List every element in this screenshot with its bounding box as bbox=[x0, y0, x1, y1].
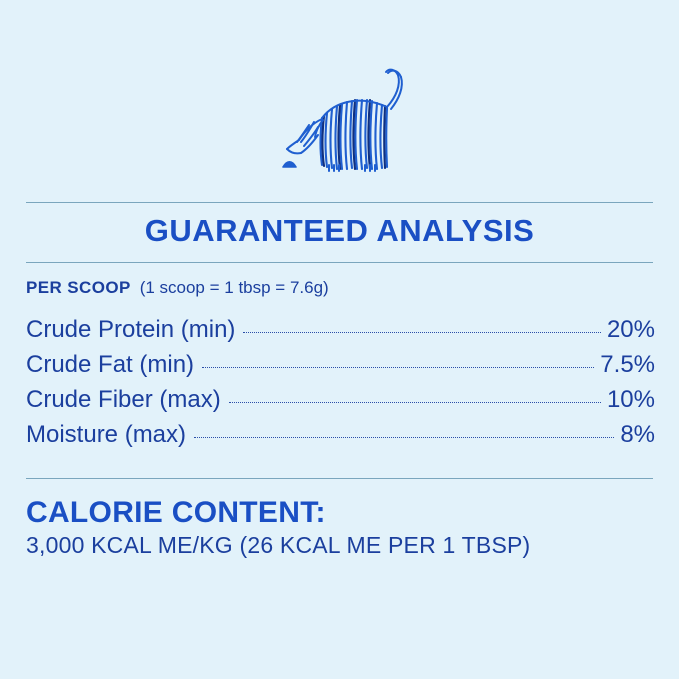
divider-above-title bbox=[26, 202, 653, 203]
leader-dots bbox=[229, 402, 601, 403]
leader-dots bbox=[243, 332, 601, 333]
nutrient-value: 7.5% bbox=[600, 351, 655, 379]
leader-dots bbox=[202, 367, 594, 368]
dog-sniffing-kibble-icon bbox=[0, 40, 679, 180]
serving-size-label: PER SCOOP bbox=[26, 277, 131, 299]
nutrient-row: Moisture (max) 8% bbox=[26, 421, 655, 456]
page-title: GUARANTEED ANALYSIS bbox=[0, 213, 679, 249]
nutrient-value: 20% bbox=[607, 316, 655, 344]
divider-below-title bbox=[26, 262, 653, 263]
serving-size-note: (1 scoop = 1 tbsp = 7.6g) bbox=[140, 277, 329, 299]
nutrient-name: Crude Protein (min) bbox=[26, 316, 235, 344]
nutrient-value: 10% bbox=[607, 386, 655, 414]
nutrient-value: 8% bbox=[620, 421, 655, 449]
nutrient-row: Crude Fiber (max) 10% bbox=[26, 386, 655, 421]
divider-above-calories bbox=[26, 478, 653, 479]
nutrient-name: Moisture (max) bbox=[26, 421, 186, 449]
calorie-content-detail: 3,000 KCAL ME/KG (26 KCAL ME PER 1 TBSP) bbox=[26, 530, 530, 560]
leader-dots bbox=[194, 437, 614, 438]
nutrient-row: Crude Protein (min) 20% bbox=[26, 316, 655, 351]
nutrient-row: Crude Fat (min) 7.5% bbox=[26, 351, 655, 386]
calorie-content-title: CALORIE CONTENT: bbox=[26, 496, 326, 530]
nutrient-list: Crude Protein (min) 20% Crude Fat (min) … bbox=[26, 316, 655, 456]
guaranteed-analysis-label: GUARANTEED ANALYSIS PER SCOOP (1 scoop =… bbox=[0, 0, 679, 679]
serving-size-row: PER SCOOP (1 scoop = 1 tbsp = 7.6g) bbox=[26, 277, 329, 299]
nutrient-name: Crude Fat (min) bbox=[26, 351, 194, 379]
nutrient-name: Crude Fiber (max) bbox=[26, 386, 221, 414]
